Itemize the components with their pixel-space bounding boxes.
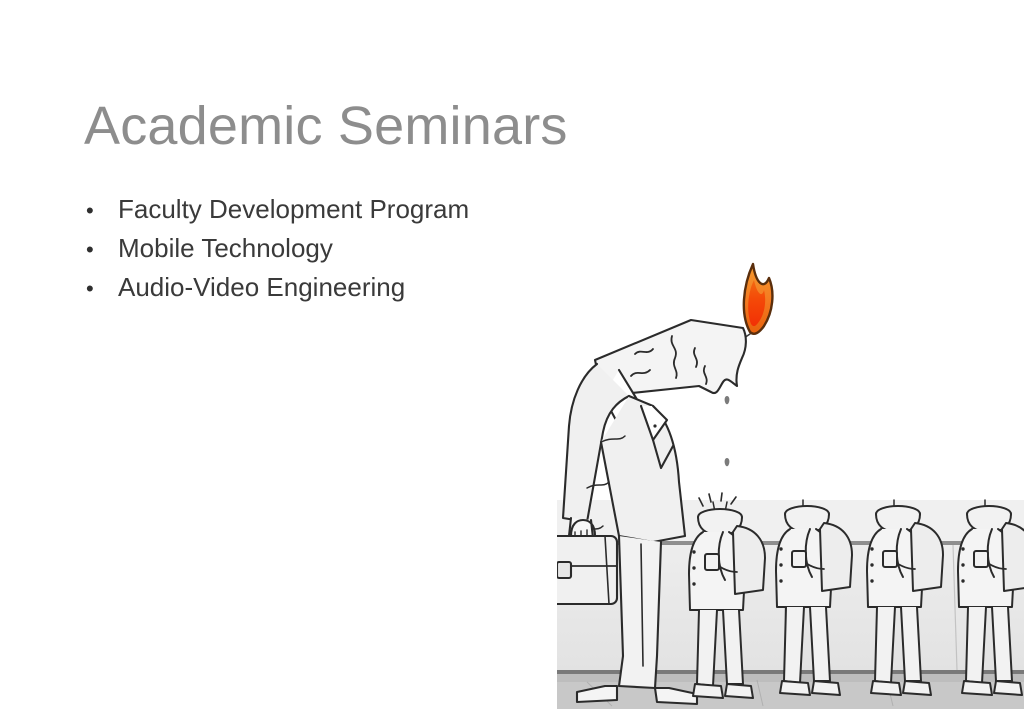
list-item-label: Faculty Development Program — [118, 190, 469, 229]
list-item: • Mobile Technology — [80, 229, 560, 268]
list-item: • Audio-Video Engineering — [80, 268, 560, 307]
shoe — [871, 681, 901, 695]
bullet-point-icon: • — [80, 230, 118, 269]
shoe — [812, 681, 840, 695]
presentation-slide: Academic Seminars • Faculty Development … — [0, 0, 1024, 709]
list-item: • Faculty Development Program — [80, 190, 560, 229]
legs — [875, 607, 895, 683]
shoe — [962, 681, 992, 695]
shoe — [994, 681, 1022, 695]
burnout-candle-illustration — [557, 236, 1024, 709]
shoe — [693, 684, 723, 698]
legs — [784, 607, 804, 683]
list-item-label: Audio-Video Engineering — [118, 268, 405, 307]
wax-drips — [725, 396, 730, 466]
flame-icon — [744, 264, 773, 334]
legs — [966, 607, 986, 683]
shoe — [780, 681, 810, 695]
backpack — [1002, 523, 1024, 591]
wax-drip-2 — [725, 458, 730, 466]
bullet-list: • Faculty Development Program • Mobile T… — [80, 190, 560, 307]
bullet-point-icon: • — [80, 269, 118, 308]
page-title: Academic Seminars — [84, 93, 568, 159]
shoe — [903, 681, 931, 695]
wax-drip-1 — [725, 396, 730, 404]
legs — [697, 610, 717, 686]
bullet-point-icon: • — [80, 191, 118, 230]
list-item-label: Mobile Technology — [118, 229, 333, 268]
shoe — [725, 684, 753, 698]
trousers — [619, 536, 661, 688]
